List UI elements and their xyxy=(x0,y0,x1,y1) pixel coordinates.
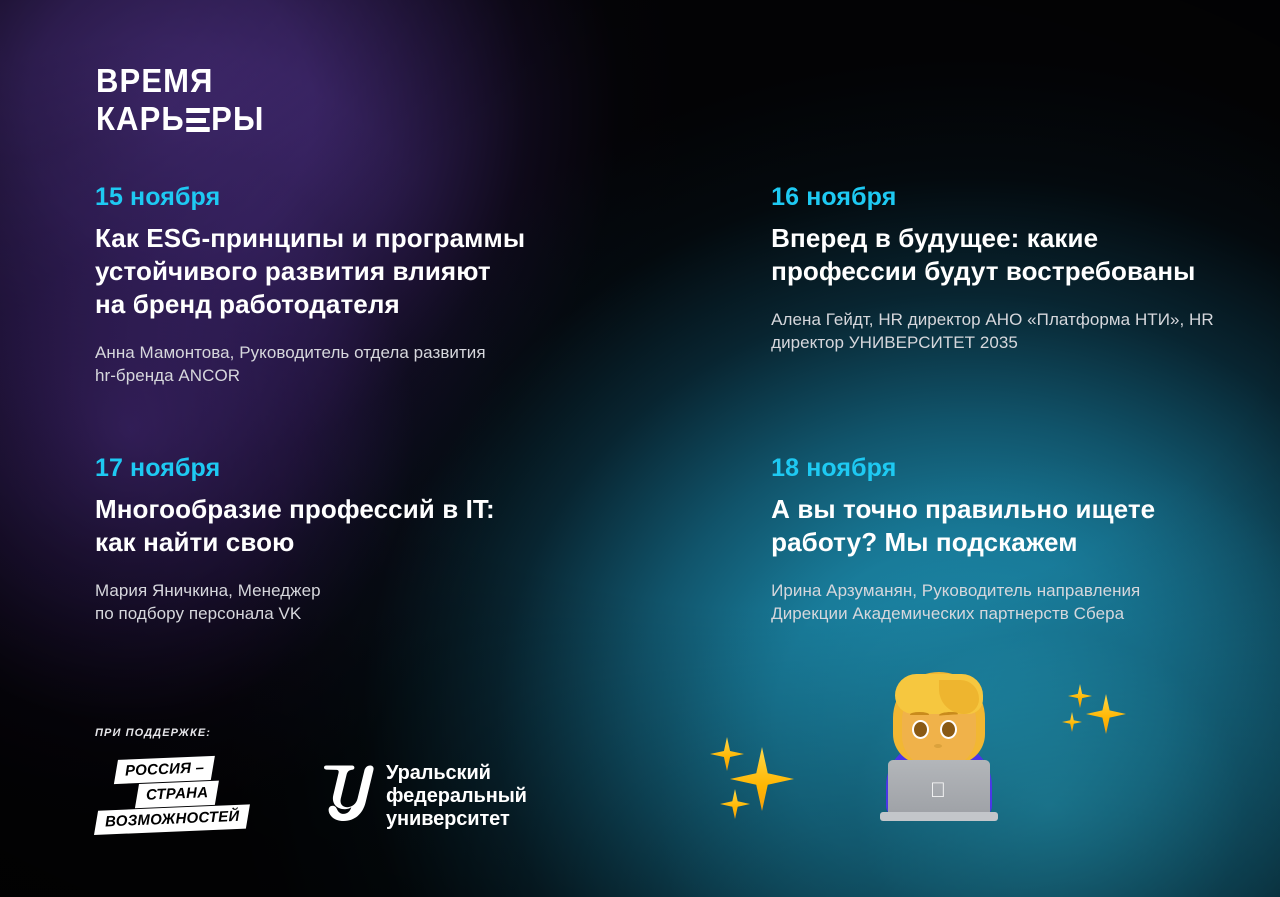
session-speaker: Мария Яничкина, Менеджер по подбору перс… xyxy=(95,579,682,625)
brand-logo-line2-part1: КАРЬ xyxy=(96,101,185,137)
poster: ВРЕМЯ КАРЬ РЫ 15 ноября Как ESG-принципы… xyxy=(0,0,1280,897)
session-card-1[interactable]: 15 ноября Как ESG-принципы и программы у… xyxy=(95,182,682,387)
session-date: 17 ноября xyxy=(95,453,682,483)
brand-logo-line2-part2: РЫ xyxy=(211,101,264,137)
rsv-line-2: СТРАНА xyxy=(135,781,219,809)
session-card-3[interactable]: 17 ноября Многообразие профессий в IT: к… xyxy=(95,453,682,625)
partner-logo-rsv[interactable]: РОССИЯ – СТРАНА ВОЗМОЖНОСТЕЙ xyxy=(93,753,281,839)
session-row-1: 15 ноября Как ESG-принципы и программы у… xyxy=(0,182,1280,387)
brand-logo-line2: КАРЬ РЫ xyxy=(96,101,264,137)
rsv-line-3: ВОЗМОЖНОСТЕЙ xyxy=(94,804,250,835)
session-card-4[interactable]: 18 ноября А вы точно правильно ищете раб… xyxy=(771,453,1280,625)
session-title: А вы точно правильно ищете работу? Мы по… xyxy=(771,493,1280,559)
rsv-line-2-text: СТРАНА xyxy=(146,782,209,806)
brand-logo-line1: ВРЕМЯ xyxy=(96,63,264,99)
session-speaker: Алена Гейдт, HR директор АНО «Платформа … xyxy=(771,308,1280,354)
session-title: Как ESG-принципы и программы устойчивого… xyxy=(95,222,682,321)
urfu-label: Уральский федеральный университет xyxy=(386,762,527,831)
session-grid: 15 ноября Как ESG-принципы и программы у… xyxy=(0,182,1280,625)
session-date: 18 ноября xyxy=(771,453,1280,483)
session-date: 16 ноября xyxy=(771,182,1280,212)
session-card-2[interactable]: 16 ноября Вперед в будущее: какие профес… xyxy=(771,182,1280,387)
session-date: 15 ноября xyxy=(95,182,682,212)
urfu-mark-icon xyxy=(322,763,374,829)
partner-logos: РОССИЯ – СТРАНА ВОЗМОЖНОСТЕЙ Уральский ф… xyxy=(95,757,565,835)
session-row-2: 17 ноября Многообразие профессий в IT: к… xyxy=(0,453,1280,625)
stylized-e-icon xyxy=(186,108,210,132)
support-label: ПРИ ПОДДЕРЖКЕ: xyxy=(95,727,565,739)
partner-logo-urfu[interactable]: Уральский федеральный университет xyxy=(322,762,527,831)
session-title: Многообразие профессий в IT: как найти с… xyxy=(95,493,682,559)
session-speaker: Ирина Арзуманян, Руководитель направлени… xyxy=(771,579,1280,625)
brand-logo: ВРЕМЯ КАРЬ РЫ xyxy=(96,63,275,137)
rsv-line-3-text: ВОЗМОЖНОСТЕЙ xyxy=(105,806,240,833)
session-speaker: Анна Мамонтова, Руководитель отдела разв… xyxy=(95,341,682,387)
footer: ПРИ ПОДДЕРЖКЕ: РОССИЯ – СТРАНА ВОЗМОЖНОС… xyxy=(95,727,565,835)
rsv-line-1: РОССИЯ – xyxy=(114,756,215,784)
session-title: Вперед в будущее: какие профессии будут … xyxy=(771,222,1280,288)
rsv-line-1-text: РОССИЯ – xyxy=(125,757,205,781)
